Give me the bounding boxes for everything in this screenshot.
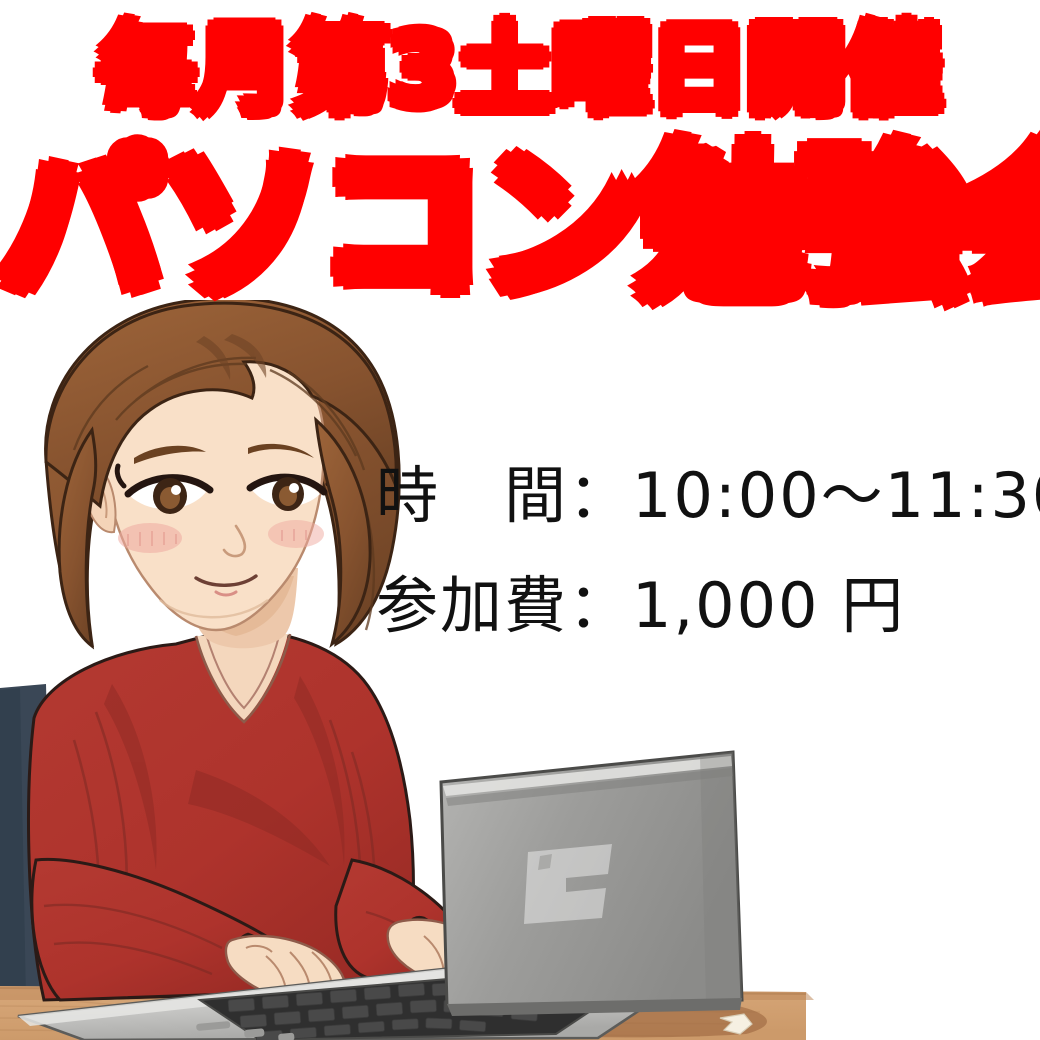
illustration-woman-typing xyxy=(0,300,1040,1040)
info-fee: 参加費：1,000 円 xyxy=(376,572,905,640)
kicker-text: 毎月第3土曜日開催 xyxy=(0,18,1040,122)
woman-head xyxy=(46,300,400,646)
poster-canvas: 毎月第3土曜日開催 パソコン勉強会 時 間：10:00〜11:30 参加費：1,… xyxy=(0,0,1040,1040)
main-title: パソコン勉強会 xyxy=(0,140,1040,312)
info-time: 時 間：10:00〜11:30 xyxy=(376,462,1040,530)
